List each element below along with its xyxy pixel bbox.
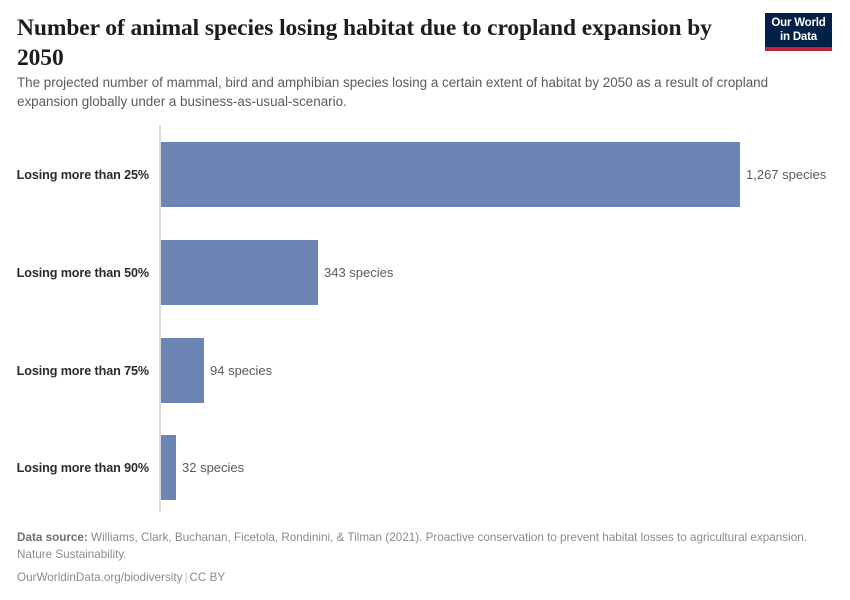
bar-category-label: Losing more than 50% <box>0 240 149 305</box>
bar-row[interactable]: Losing more than 25%1,267 species <box>0 142 850 207</box>
page-title: Number of animal species losing habitat … <box>17 13 717 73</box>
bar-rect[interactable] <box>161 142 740 207</box>
bar-value-label: 343 species <box>324 240 393 305</box>
bar-rect[interactable] <box>161 240 318 305</box>
bar-rect[interactable] <box>161 435 176 500</box>
bar-row[interactable]: Losing more than 50%343 species <box>0 240 850 305</box>
data-source-note: Data source: Williams, Clark, Buchanan, … <box>17 530 817 563</box>
bar-value-label: 1,267 species <box>746 142 826 207</box>
owid-logo-line-2: in Data <box>771 31 826 48</box>
owid-url-link[interactable]: OurWorldinData.org/biodiversity <box>17 571 182 584</box>
bar-category-label: Losing more than 90% <box>0 435 149 500</box>
bar-value-label: 32 species <box>182 435 244 500</box>
bar-row[interactable]: Losing more than 90%32 species <box>0 435 850 500</box>
bar-category-label: Losing more than 75% <box>0 338 149 403</box>
bar-rect[interactable] <box>161 338 204 403</box>
data-source-text: Williams, Clark, Buchanan, Ficetola, Ron… <box>17 531 807 561</box>
owid-logo[interactable]: Our World in Data <box>765 13 832 51</box>
bar-category-label: Losing more than 25% <box>0 142 149 207</box>
chart-footer: Data source: Williams, Clark, Buchanan, … <box>17 530 817 584</box>
data-source-label: Data source: <box>17 531 88 544</box>
bar-row[interactable]: Losing more than 75%94 species <box>0 338 850 403</box>
bar-chart: Losing more than 25%1,267 speciesLosing … <box>0 125 850 515</box>
license-label[interactable]: CC BY <box>189 571 225 584</box>
owid-logo-line-1: Our World <box>771 17 826 31</box>
license-note: OurWorldinData.org/biodiversity|CC BY <box>17 571 817 584</box>
bar-value-label: 94 species <box>210 338 272 403</box>
chart-subtitle: The projected number of mammal, bird and… <box>17 73 797 111</box>
